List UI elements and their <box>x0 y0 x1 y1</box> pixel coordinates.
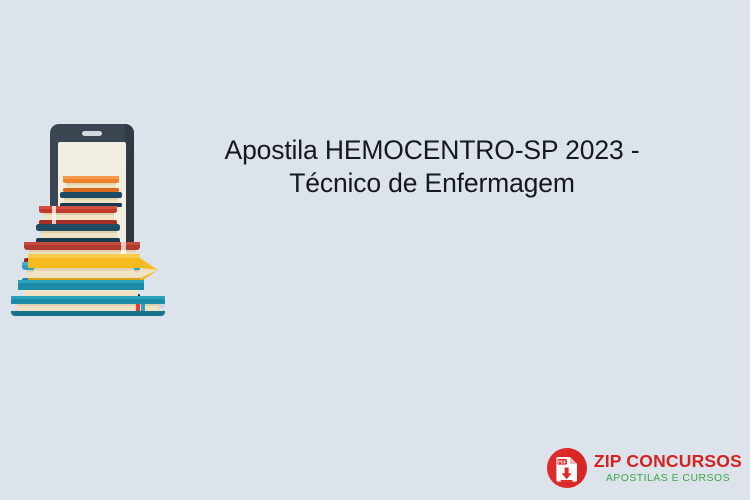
svg-text:PDF: PDF <box>558 459 567 464</box>
brand-logo[interactable]: PDF ZIP CONCURSOS APOSTILAS E CURSOS <box>546 444 742 492</box>
brand-wordmark: ZIP CONCURSOS APOSTILAS E CURSOS <box>594 453 742 484</box>
tablet-speaker-slot <box>82 131 102 136</box>
book-navy-mid <box>36 224 120 243</box>
book-orange-top <box>63 176 119 192</box>
bookmark-ribbon-red <box>136 304 140 311</box>
bookmark-ribbon-blue <box>141 304 145 311</box>
book-red-upper <box>39 206 117 225</box>
page-title: Apostila HEMOCENTRO-SP 2023 - Técnico de… <box>176 134 688 200</box>
page-title-block: Apostila HEMOCENTRO-SP 2023 - Técnico de… <box>176 134 688 200</box>
brand-name: ZIP CONCURSOS <box>594 453 742 471</box>
stack-of-books-base-illustration <box>8 250 176 316</box>
book-teal-base <box>11 296 165 316</box>
pdf-download-icon: PDF <box>546 447 588 489</box>
brand-tagline: APOSTILAS E CURSOS <box>606 473 730 484</box>
book-navy-upper <box>60 192 122 207</box>
product-banner-card: Apostila HEMOCENTRO-SP 2023 - Técnico de… <box>0 0 750 500</box>
book-yellow <box>28 254 158 282</box>
